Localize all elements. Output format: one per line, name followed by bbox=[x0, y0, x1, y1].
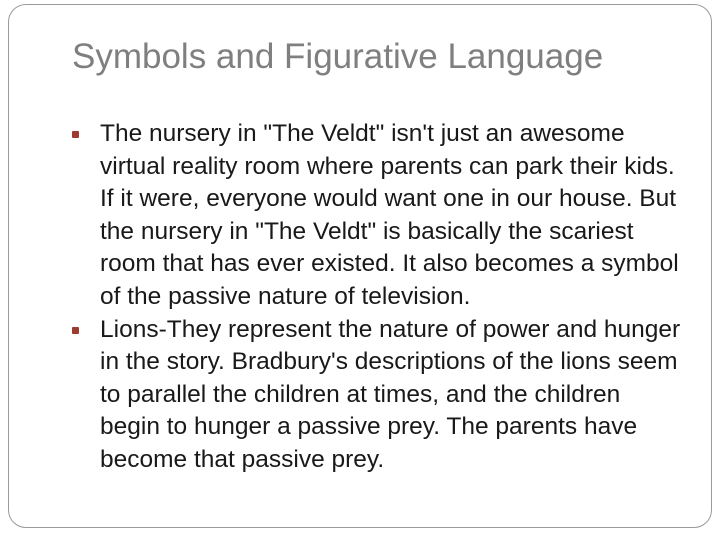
page-title: Symbols and Figurative Language bbox=[72, 35, 612, 78]
square-bullet-icon bbox=[72, 327, 79, 334]
list-item: The nursery in "The Veldt" isn't just an… bbox=[70, 118, 682, 314]
list-item-text: The nursery in "The Veldt" isn't just an… bbox=[100, 118, 682, 314]
list-item-text: Lions-They represent the nature of power… bbox=[100, 314, 682, 477]
bullet-list: The nursery in "The Veldt" isn't just an… bbox=[70, 118, 682, 477]
slide-content-area: Symbols and Figurative Language The nurs… bbox=[0, 0, 720, 540]
list-item: Lions-They represent the nature of power… bbox=[70, 314, 682, 477]
presentation-slide: Symbols and Figurative Language The nurs… bbox=[0, 0, 720, 540]
square-bullet-icon bbox=[72, 131, 79, 138]
